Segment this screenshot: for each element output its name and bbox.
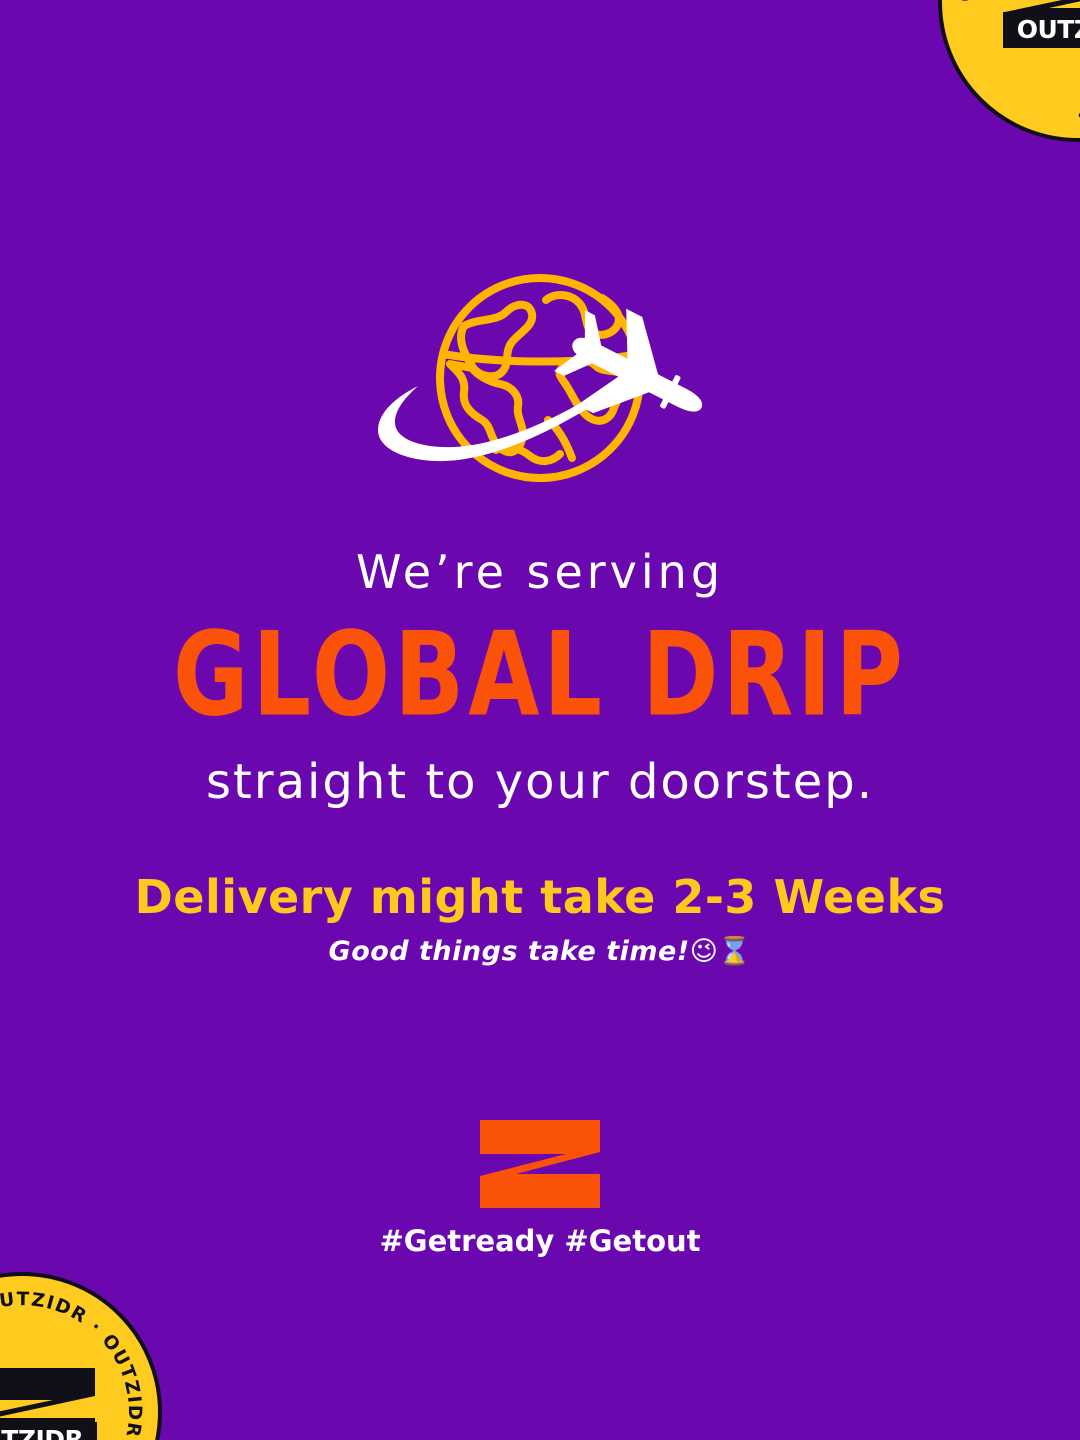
outzidr-badge-bottom-left[interactable]: OUTZIDR · OUTZIDR · OUTZIDR · OUTZIDR · … (0, 1272, 162, 1440)
headline: GLOBAL DRIP (0, 610, 1080, 740)
brand-logo[interactable] (478, 1118, 602, 1210)
globe-with-airplane-icon (360, 268, 720, 508)
badge-wordmark-label: OUTZIDR (1017, 17, 1080, 42)
badge-core-bottom-left: OUTZIDR (0, 1366, 97, 1440)
poster-canvas: We’re serving GLOBAL DRIP straight to yo… (0, 0, 1080, 1440)
badge-wordmark-label: OUTZIDR (0, 1427, 83, 1440)
reassurance-note: Good things take time!😉⌛ (0, 936, 1080, 968)
badge-core-top-right: OUTZIDR (1003, 0, 1080, 48)
delivery-note: Delivery might take 2-3 Weeks (0, 872, 1080, 923)
hashtags: #Getready #Getout (0, 1224, 1080, 1258)
hourglass-emoji-icon: ⌛ (718, 936, 752, 967)
hero-illustration (0, 268, 1080, 508)
tagline-line-3: straight to your doorstep. (0, 757, 1080, 807)
badge-wordmark: OUTZIDR (0, 1422, 97, 1440)
reassurance-text: Good things take time! (329, 936, 690, 967)
outzidr-z-logo-icon (478, 1118, 602, 1210)
badge-wordmark: OUTZIDR (1003, 12, 1080, 48)
copy-block: We’re serving GLOBAL DRIP straight to yo… (0, 548, 1080, 969)
winking-face-emoji-icon: 😉 (690, 936, 718, 967)
tagline-line-1: We’re serving (0, 548, 1080, 596)
outzidr-badge-top-right[interactable]: OUTZIDR · OUTZIDR · OUTZIDR · OUTZIDR · … (938, 0, 1080, 142)
footer-lockup: #Getready #Getout (0, 1118, 1080, 1258)
